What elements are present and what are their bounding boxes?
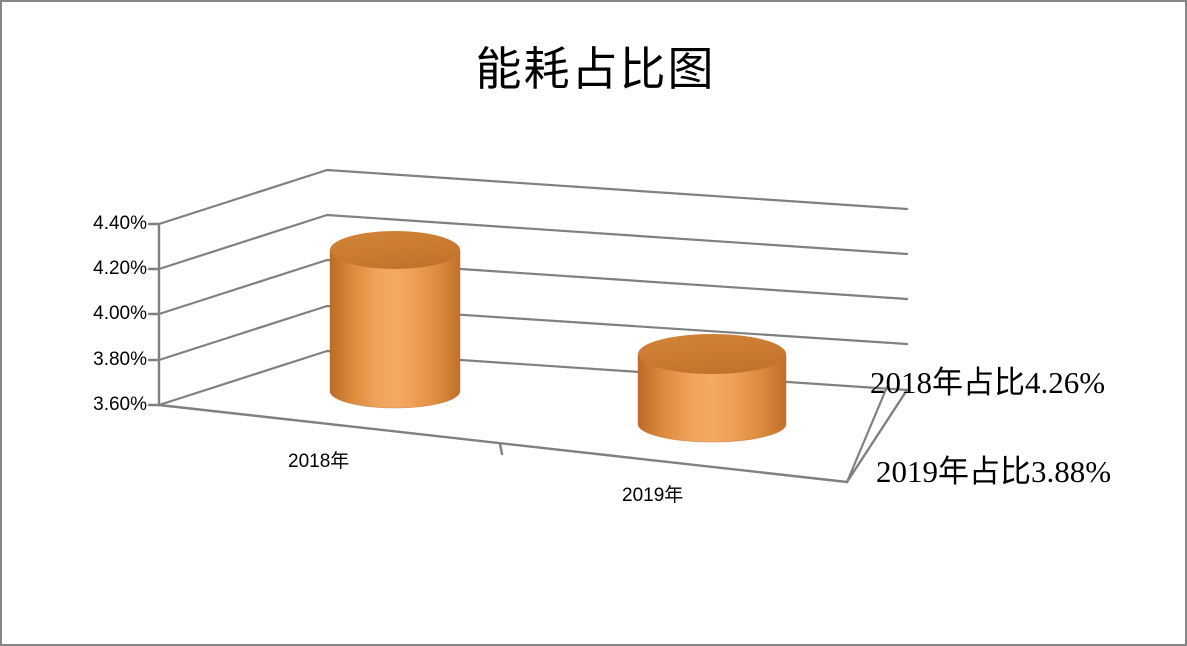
annotation-2019-share: 2019年占比3.88%: [876, 454, 1111, 490]
gridline-4.00: [159, 260, 907, 314]
bar-2018: [330, 231, 460, 408]
y-axis-tick-label-4.20: 4.20%: [57, 258, 147, 280]
x-axis-category-label-2018: 2018年: [288, 451, 349, 473]
chart-title: 能耗占比图: [2, 40, 1187, 100]
gridline-3.80: [159, 306, 907, 360]
y-axis-tick-label-3.60: 3.60%: [57, 394, 147, 416]
annotation-2018-share: 2018年占比4.26%: [870, 365, 1105, 401]
y-axis-tick-label-3.80: 3.80%: [57, 349, 147, 371]
bar-2019: [638, 334, 786, 442]
chart-container: 能耗占比图 4.40% 4.20% 4.00% 3.80% 3.60% 2018…: [0, 0, 1187, 646]
x-axis-category-label-2019: 2019年: [622, 485, 683, 507]
chart-axes: [149, 224, 907, 482]
gridline-3.60: [159, 351, 907, 405]
x-tick-category-divider: [500, 444, 502, 454]
gridline-4.20: [159, 215, 907, 269]
gridline-4.40: [159, 170, 907, 224]
chart-3d-walls: [159, 170, 907, 405]
y-axis-tick-label-4.40: 4.40%: [57, 213, 147, 235]
y-axis-tick-label-4.00: 4.00%: [57, 303, 147, 325]
